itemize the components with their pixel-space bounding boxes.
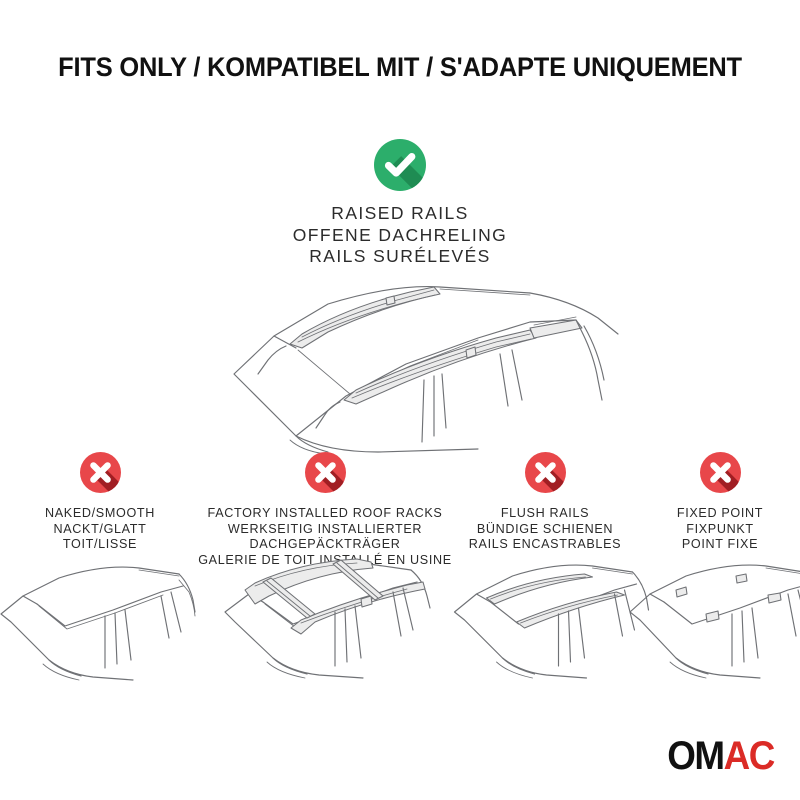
omac-logo: OMAC (667, 736, 774, 776)
main-label-en: RAISED RAILS (0, 203, 800, 225)
x-circle-icon (700, 452, 741, 493)
check-mark-glyph (374, 139, 426, 191)
main-compatible-label: RAISED RAILS OFFENE DACHRELING RAILS SUR… (0, 203, 800, 268)
incompatible-item-factory-rack: FACTORY INSTALLED ROOF RACKS WERKSEITIG … (200, 452, 450, 702)
x-mark-glyph (525, 452, 566, 493)
x-mark-glyph (305, 452, 346, 493)
incompatible-label: NAKED/SMOOTH NACKT/GLATT TOIT/LISSE (45, 506, 155, 553)
car-roof-factory-rack-illustration (211, 546, 447, 682)
x-circle-icon (80, 452, 121, 493)
car-roof-flush-rails-illustration (447, 552, 652, 682)
x-mark-glyph (700, 452, 741, 493)
main-label-de: OFFENE DACHRELING (0, 225, 800, 247)
incompatible-label: FIXED POINT FIXPUNKT POINT FIXE (677, 506, 763, 553)
label-line-1: FLUSH RAILS (469, 506, 621, 522)
logo-text-dark: OM (667, 734, 723, 778)
main-label-fr: RAILS SURÉLEVÉS (0, 246, 800, 268)
label-line-2: NACKT/GLATT (45, 522, 155, 538)
x-circle-icon (525, 452, 566, 493)
car-roof-naked-smooth-illustration (0, 556, 199, 684)
car-roof-fixed-point-illustration (624, 552, 800, 682)
label-line-1: NAKED/SMOOTH (45, 506, 155, 522)
logo-text-accent: AC (724, 734, 774, 778)
incompatible-label: FLUSH RAILS BÜNDIGE SCHIENEN RAILS ENCAS… (469, 506, 621, 553)
check-circle-icon (374, 139, 426, 191)
label-line-3: TOIT/LISSE (45, 537, 155, 553)
label-line-3: POINT FIXE (677, 537, 763, 553)
label-line-2: FIXPUNKT (677, 522, 763, 538)
incompatible-item-flush-rails: FLUSH RAILS BÜNDIGE SCHIENEN RAILS ENCAS… (450, 452, 640, 702)
incompatible-item-fixed-point: FIXED POINT FIXPUNKT POINT FIXE (640, 452, 800, 702)
label-line-2: BÜNDIGE SCHIENEN (469, 522, 621, 538)
label-line-1: FACTORY INSTALLED ROOF RACKS (198, 506, 452, 522)
car-roof-raised-rails-illustration (178, 276, 623, 454)
page-title: FITS ONLY / KOMPATIBEL MIT / S'ADAPTE UN… (16, 52, 784, 83)
x-mark-glyph (80, 452, 121, 493)
label-line-3: RAILS ENCASTRABLES (469, 537, 621, 553)
label-line-1: FIXED POINT (677, 506, 763, 522)
incompatible-item-naked-smooth: NAKED/SMOOTH NACKT/GLATT TOIT/LISSE (0, 452, 200, 702)
incompatible-roof-types-row: NAKED/SMOOTH NACKT/GLATT TOIT/LISSE (0, 452, 800, 702)
label-line-2: WERKSEITIG INSTALLIERTER (198, 522, 452, 538)
x-circle-icon (305, 452, 346, 493)
